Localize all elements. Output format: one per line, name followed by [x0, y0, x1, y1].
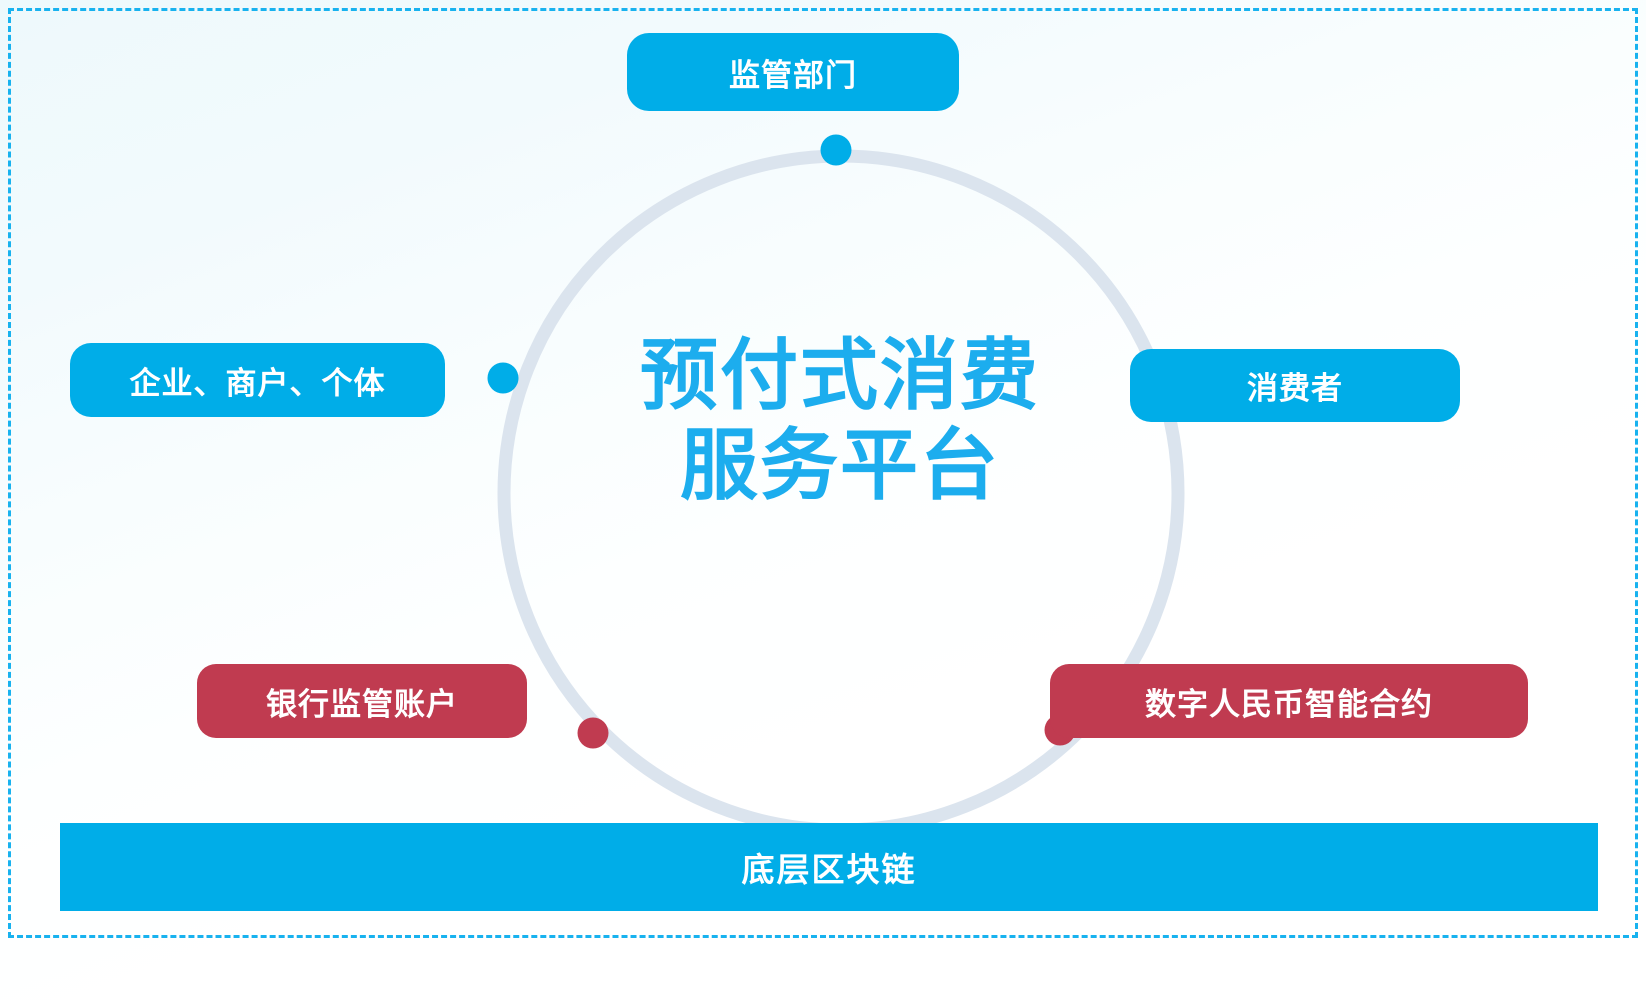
- center-title-line1: 预付式消费: [640, 331, 1040, 419]
- node-dot-bank: [578, 718, 609, 749]
- node-label-merchants-text: 企业、商户、个体: [130, 358, 386, 403]
- node-label-consumer-text: 消费者: [1247, 363, 1343, 408]
- center-title: 预付式消费 服务平台: [530, 330, 1150, 511]
- node-label-merchants[interactable]: 企业、商户、个体: [70, 343, 445, 417]
- center-title-line2: 服务平台: [530, 420, 1150, 510]
- node-label-contract[interactable]: 数字人民币智能合约: [1050, 664, 1528, 738]
- node-label-bank-text: 银行监管账户: [266, 679, 458, 724]
- node-label-bank[interactable]: 银行监管账户: [197, 664, 527, 738]
- diagram-canvas: 预付式消费 服务平台 监管部门 企业、商户、个体 消费者 银行监管账户 数字人民…: [0, 0, 1646, 1000]
- node-label-regulator[interactable]: 监管部门: [627, 33, 959, 111]
- foundation-bar-label: 底层区块链: [742, 843, 917, 891]
- node-label-regulator-text: 监管部门: [729, 50, 857, 95]
- foundation-bar[interactable]: 底层区块链: [60, 823, 1598, 911]
- node-dot-merchants: [488, 363, 519, 394]
- node-label-contract-text: 数字人民币智能合约: [1145, 679, 1433, 724]
- node-dot-regulator: [821, 135, 852, 166]
- node-label-consumer[interactable]: 消费者: [1130, 349, 1460, 422]
